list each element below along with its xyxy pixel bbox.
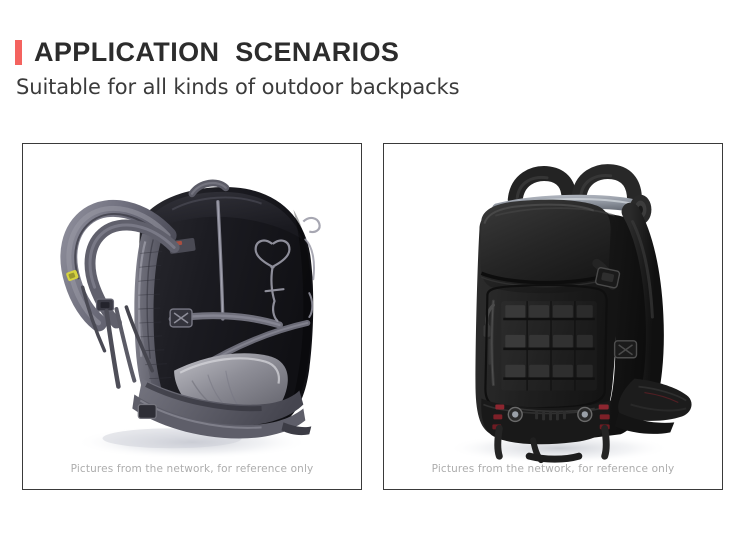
page-title: APPLICATION SCENARIOS: [34, 37, 399, 67]
page-header: APPLICATION SCENARIOS Suitable for all k…: [15, 36, 735, 100]
card-caption: Pictures from the network, for reference…: [23, 463, 361, 475]
hiking-backpack-photo: [23, 144, 361, 489]
card-caption: Pictures from the network, for reference…: [384, 463, 722, 475]
tactical-backpack-photo: [384, 144, 722, 489]
page-subtitle: Suitable for all kinds of outdoor backpa…: [16, 75, 735, 100]
scenario-card-tactical-backpack[interactable]: Pictures from the network, for reference…: [383, 143, 723, 490]
accent-bar-icon: [15, 40, 22, 65]
hiking-backpack-illustration: [23, 144, 361, 489]
scenario-card-hiking-backpack[interactable]: Pictures from the network, for reference…: [22, 143, 362, 490]
scenario-card-list: Pictures from the network, for reference…: [22, 143, 723, 490]
application-scenarios-page: APPLICATION SCENARIOS Suitable for all k…: [0, 0, 750, 533]
tactical-backpack-illustration: [384, 144, 722, 489]
title-row: APPLICATION SCENARIOS: [15, 36, 735, 68]
